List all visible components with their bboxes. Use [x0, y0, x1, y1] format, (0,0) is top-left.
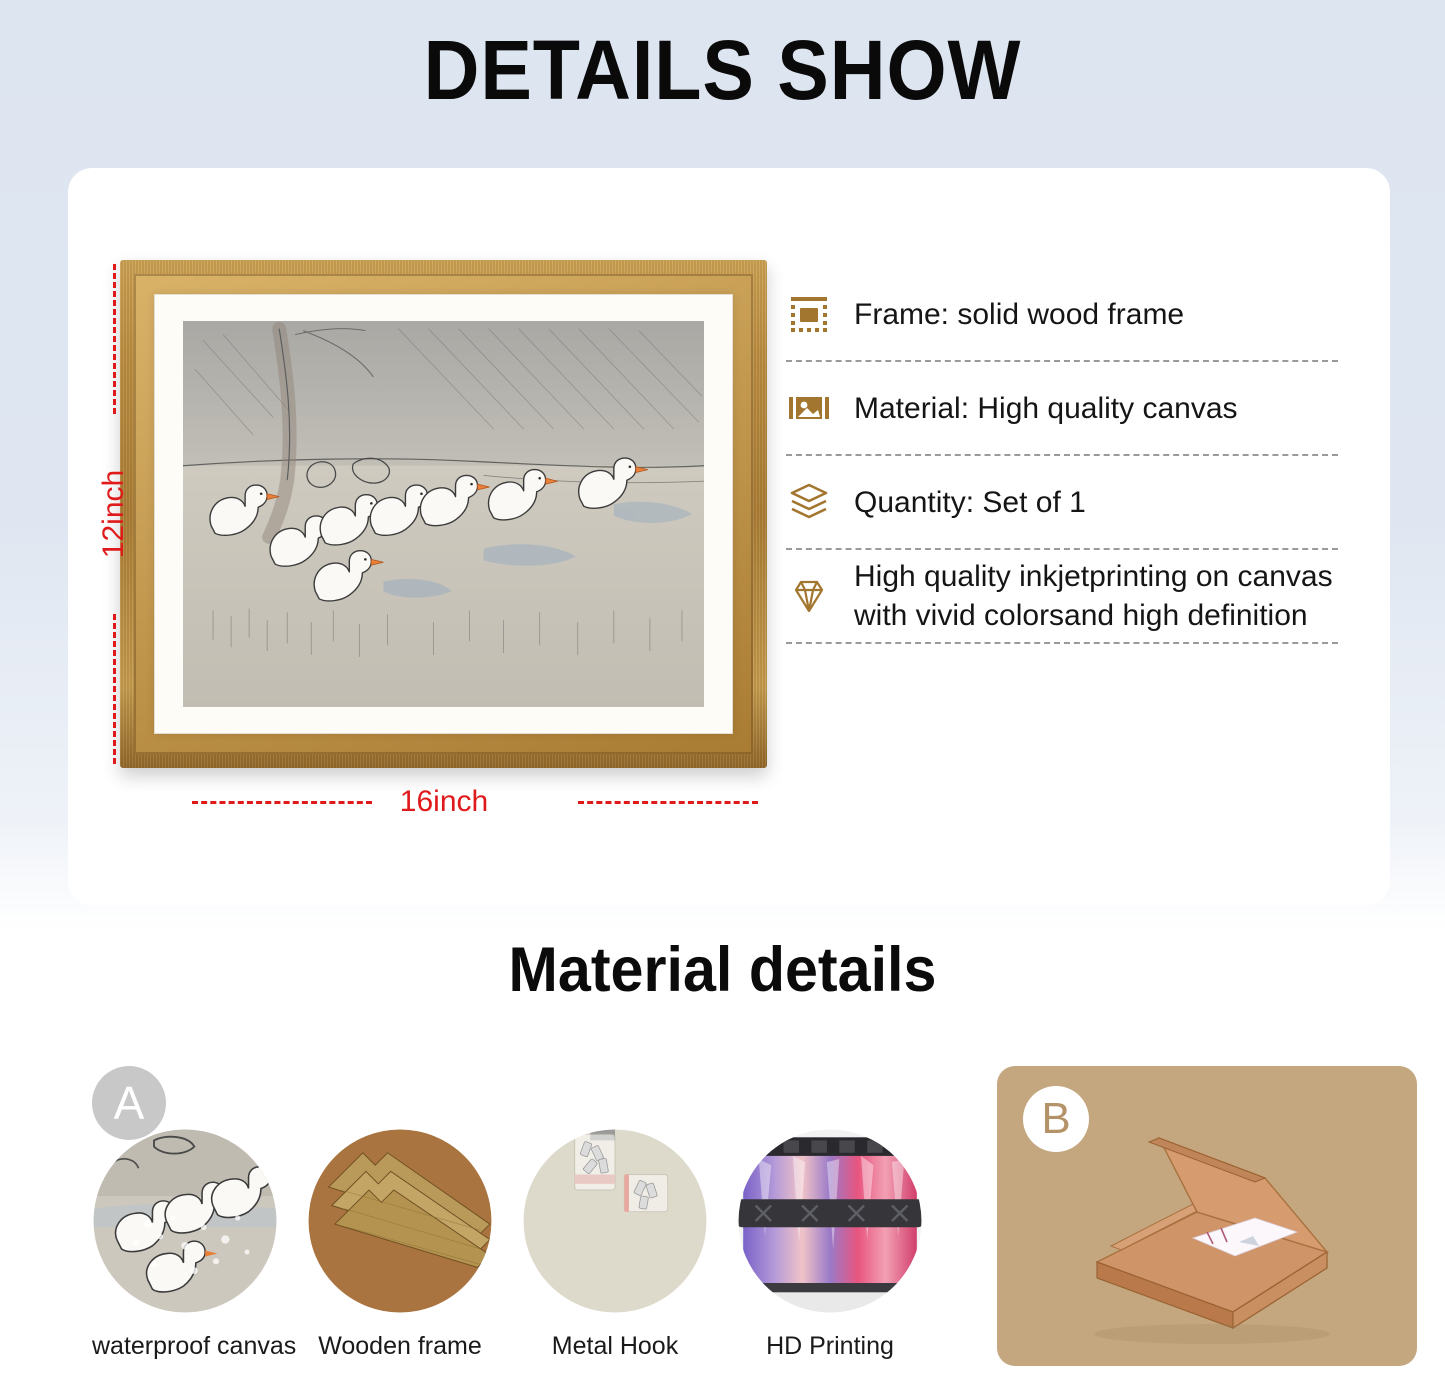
mat-board — [154, 294, 733, 734]
thumbnail-label: Wooden frame — [307, 1332, 493, 1361]
feature-label: Frame: solid wood frame — [854, 295, 1184, 334]
canvas-droplets-image — [92, 1128, 278, 1314]
thumbnail-wooden-frame: Wooden frame — [307, 1128, 493, 1361]
diamond-icon — [786, 573, 832, 619]
feature-item-quantity: Quantity: Set of 1 — [786, 456, 1346, 548]
height-dimension: 12inch — [92, 260, 136, 768]
dimension-dash-right — [578, 801, 758, 804]
details-card: 12inch 16inch — [68, 168, 1390, 905]
feature-label: Material: High quality canvas — [854, 389, 1238, 428]
thumbnail-label: waterproof canvas — [92, 1332, 278, 1361]
feature-label: High quality inkjetprinting on canvas wi… — [854, 557, 1346, 635]
dimension-dash-bottom — [113, 614, 116, 764]
canvas-droplets-thumb — [92, 1128, 278, 1314]
feature-item-frame: Frame: solid wood frame — [786, 268, 1346, 360]
image-icon — [786, 385, 832, 431]
feature-item-material: Material: High quality canvas — [786, 362, 1346, 454]
canvas-artwork — [183, 321, 704, 707]
feature-label: Quantity: Set of 1 — [854, 483, 1086, 522]
feature-divider — [786, 642, 1338, 644]
details-show-section: DETAILS SHOW — [0, 0, 1445, 930]
wood-moulding-thumb — [307, 1128, 493, 1314]
packaging-panel: B — [997, 1066, 1417, 1366]
hardware-bags-image — [522, 1128, 708, 1314]
packaging-box-image — [997, 1066, 1417, 1366]
wood-moulding-image — [307, 1128, 493, 1314]
printer-image — [737, 1128, 923, 1314]
thumbnail-label: Metal Hook — [522, 1332, 708, 1361]
hardware-bags-thumb — [522, 1128, 708, 1314]
thumbnail-hd-printing: HD Printing — [737, 1128, 923, 1361]
dimension-dash-left — [192, 801, 372, 804]
material-details-title: Material details — [43, 934, 1401, 1006]
thumbnail-label: HD Printing — [737, 1332, 923, 1361]
framed-artwork — [120, 260, 770, 780]
wood-frame — [120, 260, 767, 768]
badge-a: A — [92, 1066, 166, 1140]
printer-thumb — [737, 1128, 923, 1314]
layers-icon — [786, 479, 832, 525]
width-dimension-label: 16inch — [400, 785, 488, 819]
page-title: DETAILS SHOW — [58, 22, 1387, 119]
frame-icon — [786, 291, 832, 337]
height-dimension-label: 12inch — [97, 470, 131, 558]
thumbnail-metal-hook: Metal Hook — [522, 1128, 708, 1361]
material-thumbnail-row: A — [92, 1128, 962, 1378]
feature-list: Frame: solid wood frame Material: High q… — [786, 268, 1346, 644]
geese-illustration — [183, 321, 704, 707]
width-dimension: 16inch — [120, 780, 768, 824]
dimension-dash-top — [113, 264, 116, 414]
feature-item-printing: High quality inkjetprinting on canvas wi… — [786, 550, 1346, 642]
thumbnail-waterproof-canvas: A — [92, 1128, 278, 1361]
